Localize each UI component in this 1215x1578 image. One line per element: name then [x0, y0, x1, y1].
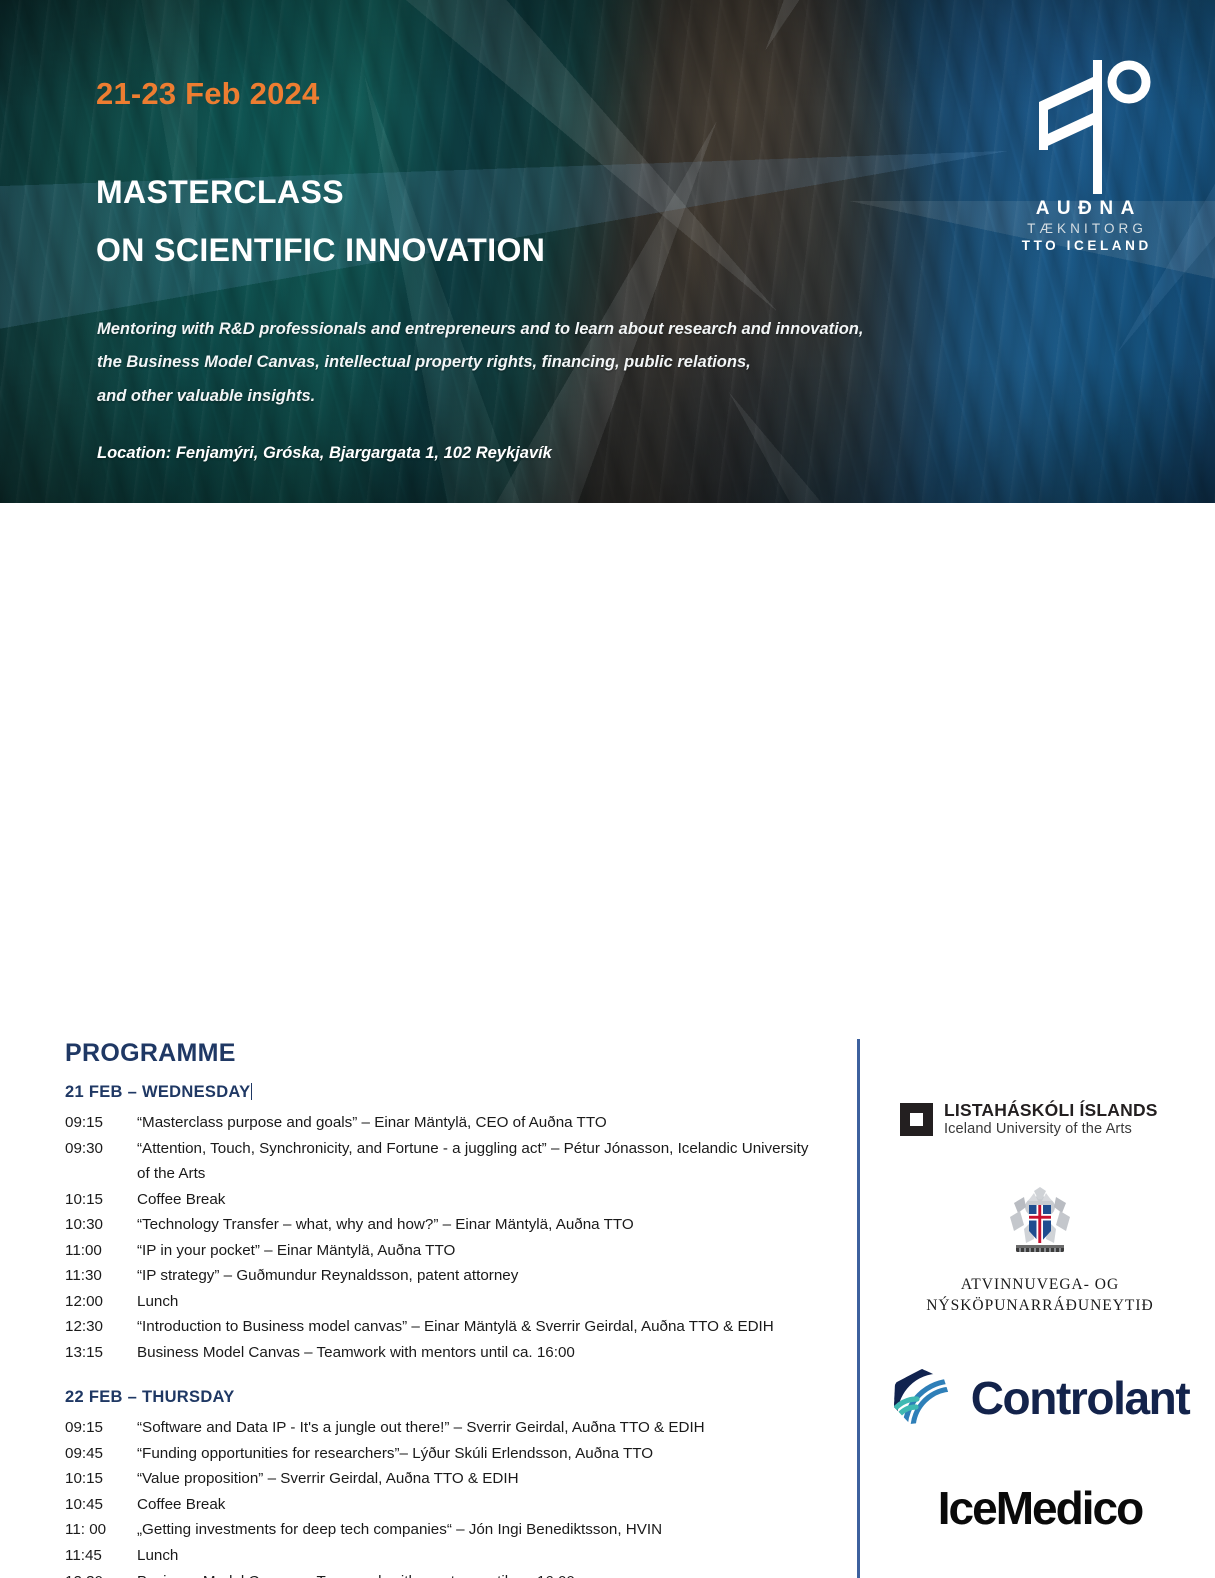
- hero-banner: 21-23 Feb 2024 MASTERCLASS ON SCIENTIFIC…: [0, 0, 1215, 503]
- listahaskoli-name-is: LISTAHÁSKÓLI ÍSLANDS: [944, 1101, 1158, 1120]
- programme-item-time: 11:30: [65, 1263, 137, 1289]
- programme-day: 21 FEB – WEDNESDAY09:15“Masterclass purp…: [65, 1083, 825, 1365]
- programme-item: 12:30“Introduction to Business model can…: [65, 1314, 825, 1340]
- programme-item: 12:30Business Model Canvas – Teamwork wi…: [65, 1569, 825, 1578]
- ministry-logo: ATVINNUVEGA- OG NÝSKÖPUNARRÁÐUNEYTIÐ: [880, 1187, 1200, 1315]
- programme-item: 09:45“Funding opportunities for research…: [65, 1441, 825, 1467]
- icemedico-logo: IceMedico: [880, 1481, 1200, 1535]
- programme-item: 09:15“Masterclass purpose and goals” – E…: [65, 1110, 825, 1136]
- programme-item: 09:15“Software and Data IP - It's a jung…: [65, 1415, 825, 1441]
- description-line-1: Mentoring with R&D professionals and ent…: [97, 313, 863, 346]
- programme-item-description: “Attention, Touch, Synchronicity, and Fo…: [137, 1136, 825, 1187]
- programme-item-time: 11:00: [65, 1238, 137, 1264]
- audna-wordmark-line-1: AUÐNA: [1007, 198, 1163, 220]
- sponsor-column: LISTAHÁSKÓLI ÍSLANDS Iceland University …: [880, 1063, 1200, 1578]
- description-line-3: and other valuable insights.: [97, 380, 863, 413]
- event-location: Location: Fenjamýri, Gróska, Bjargargata…: [97, 444, 552, 463]
- programme-item-description: “Funding opportunities for researchers”–…: [137, 1441, 825, 1467]
- programme-item: 11:30“IP strategy” – Guðmundur Reynaldss…: [65, 1263, 825, 1289]
- programme-item-time: 10:15: [65, 1187, 137, 1213]
- iceland-coat-of-arms-icon: [1004, 1187, 1076, 1255]
- programme-item-description: Lunch: [137, 1543, 825, 1569]
- audna-wordmark-line-2: TÆKNITORG: [1007, 221, 1163, 236]
- column-divider: [857, 1039, 860, 1578]
- programme-item-description: “Masterclass purpose and goals” – Einar …: [137, 1110, 825, 1136]
- event-description: Mentoring with R&D professionals and ent…: [97, 313, 863, 413]
- programme-day-label: 21 FEB – WEDNESDAY: [65, 1083, 250, 1101]
- programme-day-heading: 22 FEB – THURSDAY: [65, 1388, 825, 1407]
- programme-item-description: Business Model Canvas – Teamwork with me…: [137, 1340, 825, 1366]
- page-title: MASTERCLASS ON SCIENTIFIC INNOVATION: [96, 163, 545, 279]
- programme-item: 10:15“Value proposition” – Sverrir Geird…: [65, 1466, 825, 1492]
- programme-item: 11: 00„Getting investments for deep tech…: [65, 1517, 825, 1543]
- programme-item: 10:15Coffee Break: [65, 1187, 825, 1213]
- programme-item-description: “Software and Data IP - It's a jungle ou…: [137, 1415, 825, 1441]
- programme-item: 10:45Coffee Break: [65, 1492, 825, 1518]
- programme-item-description: “IP in your pocket” – Einar Mäntylä, Auð…: [137, 1238, 825, 1264]
- programme-day: 22 FEB – THURSDAY09:15“Software and Data…: [65, 1388, 825, 1578]
- listahaskoli-name-en: Iceland University of the Arts: [944, 1121, 1158, 1139]
- listahaskoli-islands-logo: LISTAHÁSKÓLI ÍSLANDS Iceland University …: [880, 1101, 1200, 1139]
- programme-item-time: 12:30: [65, 1569, 137, 1578]
- title-line-2: ON SCIENTIFIC INNOVATION: [96, 221, 545, 279]
- programme-item-description: “Value proposition” – Sverrir Geirdal, A…: [137, 1466, 825, 1492]
- controlant-mark-icon: [891, 1367, 953, 1429]
- programme-item-description: “Technology Transfer – what, why and how…: [137, 1212, 825, 1238]
- audna-logo: AUÐNA TÆKNITORG TTO ICELAND: [1007, 58, 1163, 266]
- programme-day-label: 22 FEB – THURSDAY: [65, 1388, 235, 1406]
- programme-item: 11:00“IP in your pocket” – Einar Mäntylä…: [65, 1238, 825, 1264]
- programme-item-description: “IP strategy” – Guðmundur Reynaldsson, p…: [137, 1263, 825, 1289]
- programme-item-description: „Getting investments for deep tech compa…: [137, 1517, 825, 1543]
- programme-item: 12:00Lunch: [65, 1289, 825, 1315]
- programme-item-description: Coffee Break: [137, 1492, 825, 1518]
- programme-item-time: 09:15: [65, 1415, 137, 1441]
- description-line-2: the Business Model Canvas, intellectual …: [97, 346, 863, 379]
- programme-item-time: 12:00: [65, 1289, 137, 1315]
- programme-item-description: Lunch: [137, 1289, 825, 1315]
- event-date: 21-23 Feb 2024: [96, 76, 319, 112]
- programme-item-description: “Introduction to Business model canvas” …: [137, 1314, 825, 1340]
- title-line-1: MASTERCLASS: [96, 163, 545, 221]
- programme-item-time: 10:15: [65, 1466, 137, 1492]
- programme-item-time: 09:15: [65, 1110, 137, 1136]
- programme-item: 13:15Business Model Canvas – Teamwork wi…: [65, 1340, 825, 1366]
- programme-heading: PROGRAMME: [65, 1039, 825, 1068]
- programme-item-time: 13:15: [65, 1340, 137, 1366]
- programme-item-time: 09:45: [65, 1441, 137, 1467]
- programme-section: PROGRAMME 21 FEB – WEDNESDAY09:15“Master…: [65, 1039, 825, 1578]
- programme-item-time: 11: 00: [65, 1517, 137, 1543]
- listahaskoli-square-icon: [900, 1103, 933, 1136]
- programme-item-description: Coffee Break: [137, 1187, 825, 1213]
- text-cursor: [251, 1083, 252, 1100]
- programme-item-time: 10:30: [65, 1212, 137, 1238]
- programme-item: 11:45Lunch: [65, 1543, 825, 1569]
- programme-item-time: 09:30: [65, 1136, 137, 1187]
- icemedico-wordmark: IceMedico: [938, 1481, 1142, 1535]
- programme-day-heading: 21 FEB – WEDNESDAY: [65, 1083, 825, 1102]
- audna-wordmark-line-3: TTO ICELAND: [1007, 238, 1163, 253]
- ministry-name-line-2: NÝSKÖPUNARRÁÐUNEYTIÐ: [926, 1297, 1154, 1315]
- programme-item: 09:30“Attention, Touch, Synchronicity, a…: [65, 1136, 825, 1187]
- programme-item-time: 12:30: [65, 1314, 137, 1340]
- controlant-wordmark: Controlant: [971, 1371, 1190, 1425]
- programme-item-time: 10:45: [65, 1492, 137, 1518]
- controlant-logo: Controlant: [880, 1367, 1200, 1429]
- ministry-name-line-1: ATVINNUVEGA- OG: [926, 1276, 1154, 1294]
- page-body: PROGRAMME 21 FEB – WEDNESDAY09:15“Master…: [0, 503, 1215, 1578]
- programme-item-description: Business Model Canvas – Teamwork with me…: [137, 1569, 825, 1578]
- programme-item-time: 11:45: [65, 1543, 137, 1569]
- audna-mark-icon: [1019, 58, 1151, 194]
- programme-item: 10:30“Technology Transfer – what, why an…: [65, 1212, 825, 1238]
